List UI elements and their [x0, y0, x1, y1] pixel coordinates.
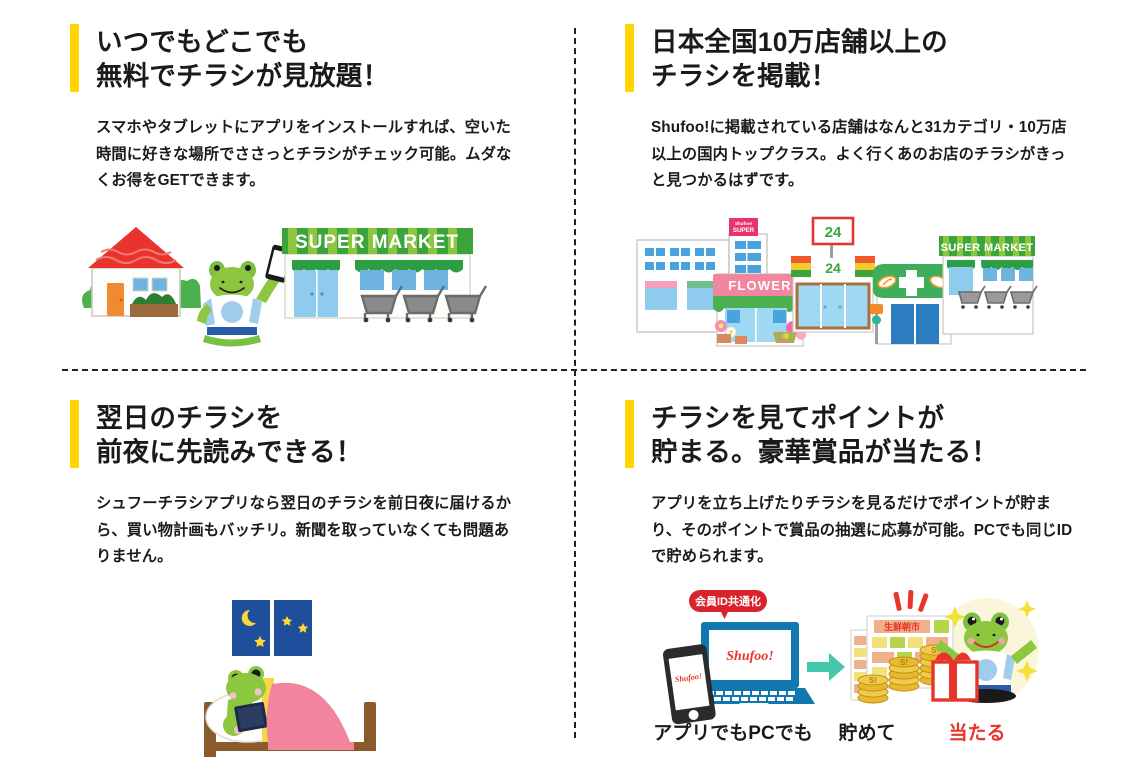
- feature-body: アプリを立ち上げたりチラシを見るだけでポイントが貯まり、そのポイントで賞品の抽選…: [651, 491, 1079, 570]
- supermarket: SUPER MARKET: [282, 228, 486, 322]
- house: [88, 227, 184, 317]
- supermarket-right-sign-text: SUPER MARKET: [941, 242, 1034, 254]
- vertical-divider: [574, 28, 576, 738]
- feature-body: スマホやタブレットにアプリをインストールすれば、空いた時間に好きな場所でささっと…: [96, 115, 524, 194]
- feature-grid-page: いつでもどこでも 無料でチラシが見放題！ スマホやタブレットにアプリをインストー…: [0, 0, 1132, 763]
- frog-in-bed-svg: [188, 592, 448, 762]
- frog-with-phone: [197, 244, 294, 346]
- spark-lines-icon: [893, 590, 929, 613]
- convenience-sign-24-text: 24: [825, 260, 841, 276]
- points-flow-svg: 会員ID共通化 Shufoo!: [655, 584, 1075, 744]
- step1-caption: アプリでもPCでも: [653, 721, 812, 744]
- flower-sign-text: FLOWER: [728, 278, 792, 293]
- accent-bar-icon: [625, 24, 634, 92]
- pharmacy: [870, 264, 955, 344]
- accent-bar-icon: [625, 400, 634, 468]
- flyer-header-text: 生鮮朝市: [884, 621, 920, 632]
- feature-heading: チラシを見てポイントが 貯まる。豪華賞品が当たる！: [651, 400, 998, 469]
- illustration-points-flow: 会員ID共通化 Shufoo!: [655, 584, 1095, 744]
- feature-body: シュフーチラシアプリなら翌日のチラシを前日夜に届けるから、買い物計画もバッチリ。…: [96, 491, 524, 570]
- night-window: [232, 600, 312, 656]
- badge-text: 会員ID共通化: [695, 594, 761, 608]
- house-frog-supermarket-svg: SUPER MARKET: [70, 208, 470, 348]
- supermarket-sign-text: SUPER MARKET: [295, 232, 459, 253]
- accent-bar-icon: [70, 24, 79, 92]
- badge-member-id: 会員ID共通化: [689, 590, 767, 619]
- gift-box-icon: [933, 652, 977, 700]
- illustration-shopping-street: Shufoo! SUPER FLOWER: [625, 208, 1095, 353]
- laptop-screen-text: Shufoo!: [726, 649, 773, 664]
- feature-heading: いつでもどこでも 無料でチラシが見放題！: [96, 24, 389, 93]
- horizontal-divider: [62, 369, 1086, 371]
- feature-card-nationwide-stores: 日本全国10万店舗以上の チラシを掲載！ Shufoo!に掲載されている店舗はな…: [625, 24, 1095, 354]
- svg-text:SUPER: SUPER: [733, 227, 755, 234]
- coin-mark-1: S!: [869, 676, 877, 685]
- accent-bar-icon: [70, 400, 79, 468]
- heading-row: いつでもどこでも 無料でチラシが見放題！: [70, 24, 540, 93]
- arrow-1-icon: [807, 653, 845, 681]
- step1-devices: 会員ID共通化 Shufoo!: [653, 590, 815, 744]
- svg-text:Shufoo!: Shufoo!: [735, 221, 753, 226]
- bed: [204, 666, 376, 757]
- heading-row: 日本全国10万店舗以上の チラシを掲載！: [625, 24, 1095, 93]
- feature-card-anytime-anywhere: いつでもどこでも 無料でチラシが見放題！ スマホやタブレットにアプリをインストー…: [70, 24, 540, 354]
- shopping-street-svg: Shufoo! SUPER FLOWER: [625, 208, 1035, 353]
- heading-row: チラシを見てポイントが 貯まる。豪華賞品が当たる！: [625, 400, 1095, 469]
- step2-caption: 貯めて: [838, 721, 895, 744]
- feature-card-points-and-prizes: チラシを見てポイントが 貯まる。豪華賞品が当たる！ アプリを立ち上げたりチラシを…: [625, 400, 1095, 745]
- supermarket-right: SUPER MARKET: [939, 236, 1037, 334]
- feature-body: Shufoo!に掲載されている店舗はなんと31カテゴリ・10万店以上の国内トップ…: [651, 115, 1079, 194]
- feature-heading: 翌日のチラシを 前夜に先読みできる！: [96, 400, 362, 469]
- step3-caption: 当たる: [948, 721, 1005, 744]
- coin-mark-2: S!: [900, 658, 908, 667]
- convenience-store: 24 24: [791, 218, 875, 332]
- feature-heading: 日本全国10万店舗以上の チラシを掲載！: [651, 24, 948, 93]
- convenience-pole-sign-text: 24: [825, 224, 842, 241]
- feature-card-next-day-preview: 翌日のチラシを 前夜に先読みできる！ シュフーチラシアプリなら翌日のチラシを前日…: [70, 400, 540, 745]
- illustration-house-frog-supermarket: SUPER MARKET: [70, 208, 540, 348]
- illustration-frog-in-bed: [188, 592, 540, 762]
- heading-row: 翌日のチラシを 前夜に先読みできる！: [70, 400, 540, 469]
